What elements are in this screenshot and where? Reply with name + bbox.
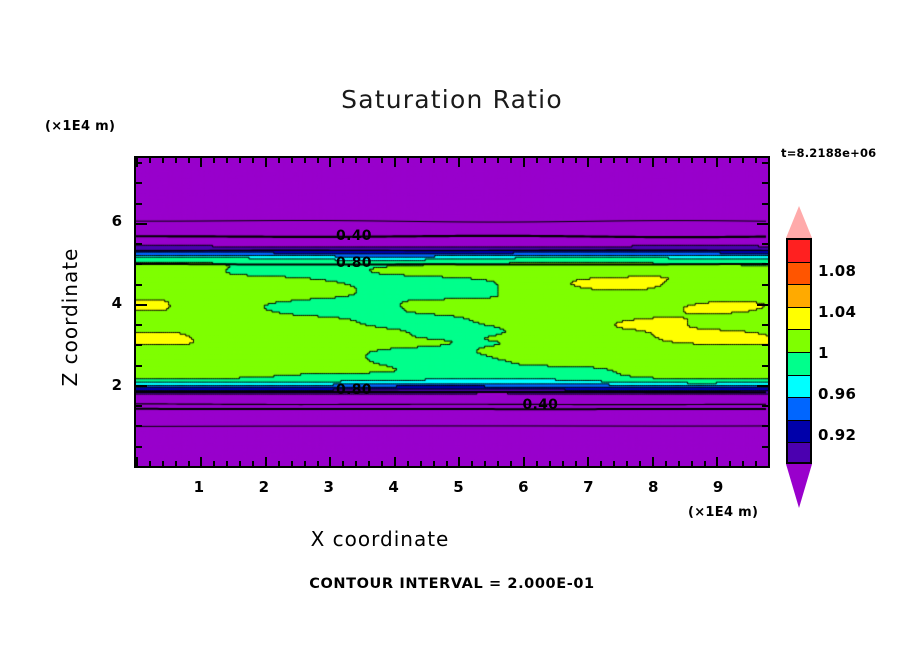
x-tick-bottom [200,457,202,466]
y-tick-right [762,425,768,427]
colorbar-band [788,308,810,331]
x-tick-top [458,158,460,167]
y-tick-right [757,385,768,387]
y-tick-left [136,304,147,306]
contour-line-label: 0.80 [336,255,372,271]
x-tick-bottom [291,461,293,466]
x-tick-label: 9 [706,478,730,496]
x-tick-top [394,158,396,167]
x-tick-bottom [239,461,241,466]
colorbar-tick-label: 1.08 [818,262,856,280]
y-tick-right [757,223,768,225]
x-tick-bottom [742,461,744,466]
x-tick-label: 1 [187,478,211,496]
x-tick-top [407,158,409,163]
x-tick-top [652,158,654,167]
x-tick-bottom [471,461,473,466]
x-tick-bottom [278,461,280,466]
contour-plot-area[interactable]: 0.400.800.800.40 [134,156,770,468]
y-tick-left [136,182,142,184]
x-tick-bottom [665,461,667,466]
x-tick-bottom [626,461,628,466]
x-tick-bottom [188,461,190,466]
x-tick-bottom [407,461,409,466]
x-tick-bottom [678,461,680,466]
x-tick-top [575,158,577,163]
y-tick-right [762,344,768,346]
colorbar-band [788,330,810,353]
contour-field [136,158,768,466]
x-tick-bottom [549,461,551,466]
y-tick-right [762,263,768,265]
y-tick-right [762,405,768,407]
x-tick-top [587,158,589,167]
colorbar-band [788,398,810,421]
x-tick-top [639,158,641,163]
colorbar-band [788,376,810,399]
y-tick-left [136,344,142,346]
y-tick-left [136,243,142,245]
y-tick-left [136,466,147,468]
x-tick-bottom [420,461,422,466]
x-tick-bottom [716,457,718,466]
x-tick-top [149,158,151,163]
x-tick-top [446,158,448,163]
x-tick-top [691,158,693,163]
x-tick-bottom [433,461,435,466]
x-tick-top [471,158,473,163]
x-tick-top [355,158,357,163]
x-tick-top [549,158,551,163]
x-tick-bottom [317,461,319,466]
y-tick-label: 2 [104,376,122,394]
x-tick-top [265,158,267,167]
contour-line-label: 0.40 [522,397,558,413]
x-tick-top [213,158,215,163]
x-tick-bottom [368,461,370,466]
y-tick-left [136,223,147,225]
x-tick-bottom [458,457,460,466]
contour-line-label: 0.80 [336,382,372,398]
x-tick-top [497,158,499,163]
x-tick-bottom [562,461,564,466]
x-tick-bottom [149,461,151,466]
x-tick-top [484,158,486,163]
x-tick-bottom [613,461,615,466]
x-tick-label: 5 [446,478,470,496]
y-axis-unit-label: (×1E4 m) [45,119,115,134]
y-tick-left [136,365,142,367]
y-tick-left [136,405,142,407]
x-tick-top [523,158,525,167]
y-tick-left [136,446,142,448]
colorbar-cap-bottom [786,464,812,508]
y-tick-right [757,304,768,306]
y-tick-label: 4 [104,294,122,312]
colorbar-band [788,421,810,444]
x-tick-bottom [600,461,602,466]
colorbar[interactable] [786,238,812,464]
x-tick-label: 3 [317,478,341,496]
x-tick-top [252,158,254,163]
x-tick-bottom [252,461,254,466]
colorbar-band [788,240,810,263]
x-tick-top [613,158,615,163]
colorbar-band [788,443,810,464]
x-tick-top [704,158,706,163]
y-tick-left [136,203,142,205]
x-tick-bottom [446,461,448,466]
y-tick-right [762,284,768,286]
x-tick-top [381,158,383,163]
x-tick-top [342,158,344,163]
colorbar-tick-label: 0.96 [818,385,856,403]
y-tick-right [762,243,768,245]
contour-line-label: 0.40 [336,228,372,244]
x-tick-bottom [704,461,706,466]
x-tick-top [768,158,770,163]
x-tick-top [329,158,331,167]
x-tick-top [755,158,757,163]
x-tick-bottom [575,461,577,466]
colorbar-tick-label: 1 [818,344,829,362]
x-tick-top [536,158,538,163]
x-tick-bottom [587,457,589,466]
x-tick-top [304,158,306,163]
x-tick-top [162,158,164,163]
x-tick-label: 6 [511,478,535,496]
y-tick-right [762,203,768,205]
x-tick-bottom [510,461,512,466]
x-tick-top [510,158,512,163]
colorbar-cap-top [786,206,812,238]
x-tick-top [729,158,731,163]
y-tick-right [762,446,768,448]
x-tick-bottom [729,461,731,466]
y-tick-left [136,385,147,387]
x-tick-top [420,158,422,163]
colorbar-band [788,263,810,286]
y-tick-right [762,162,768,164]
x-tick-top [368,158,370,163]
x-tick-top [175,158,177,163]
x-tick-bottom [394,457,396,466]
page-title: Saturation Ratio [0,85,904,114]
x-tick-bottom [639,461,641,466]
y-tick-right [762,324,768,326]
x-tick-top [678,158,680,163]
colorbar-band [788,353,810,376]
x-tick-top [665,158,667,163]
y-tick-left [136,284,142,286]
y-tick-left [136,162,142,164]
colorbar-tick-label: 0.92 [818,426,856,444]
x-tick-top [200,158,202,167]
colorbar-band [788,285,810,308]
x-axis-unit-label: (×1E4 m) [688,505,758,520]
x-tick-top [716,158,718,167]
x-tick-top [291,158,293,163]
x-tick-bottom [381,461,383,466]
x-tick-label: 2 [252,478,276,496]
x-tick-bottom [355,461,357,466]
x-tick-bottom [265,457,267,466]
x-tick-bottom [497,461,499,466]
x-tick-top [226,158,228,163]
x-tick-top [433,158,435,163]
x-tick-bottom [523,457,525,466]
x-tick-bottom [304,461,306,466]
x-tick-bottom [213,461,215,466]
y-tick-right [762,365,768,367]
x-tick-bottom [136,457,138,466]
y-tick-left [136,425,142,427]
y-tick-right [762,182,768,184]
x-tick-top [317,158,319,163]
x-tick-label: 4 [382,478,406,496]
x-tick-bottom [536,461,538,466]
y-tick-right [757,466,768,468]
x-tick-top [239,158,241,163]
x-tick-bottom [162,461,164,466]
time-annotation: t=8.2188e+06 [781,146,876,160]
x-tick-bottom [484,461,486,466]
x-tick-bottom [342,461,344,466]
y-axis-title: Z coordinate [58,217,82,417]
x-tick-bottom [652,457,654,466]
x-tick-top [188,158,190,163]
x-tick-label: 8 [641,478,665,496]
colorbar-tick-label: 1.04 [818,303,856,321]
x-tick-top [278,158,280,163]
y-tick-label: 6 [104,212,122,230]
x-tick-bottom [691,461,693,466]
x-tick-bottom [768,461,770,466]
contour-interval-caption: CONTOUR INTERVAL = 2.000E-01 [0,576,904,592]
x-tick-top [742,158,744,163]
y-tick-left [136,263,142,265]
x-tick-label: 7 [576,478,600,496]
x-tick-top [562,158,564,163]
x-tick-top [626,158,628,163]
x-tick-bottom [329,457,331,466]
y-tick-left [136,324,142,326]
x-axis-title: X coordinate [0,527,760,551]
x-tick-bottom [226,461,228,466]
x-tick-bottom [175,461,177,466]
x-tick-top [600,158,602,163]
